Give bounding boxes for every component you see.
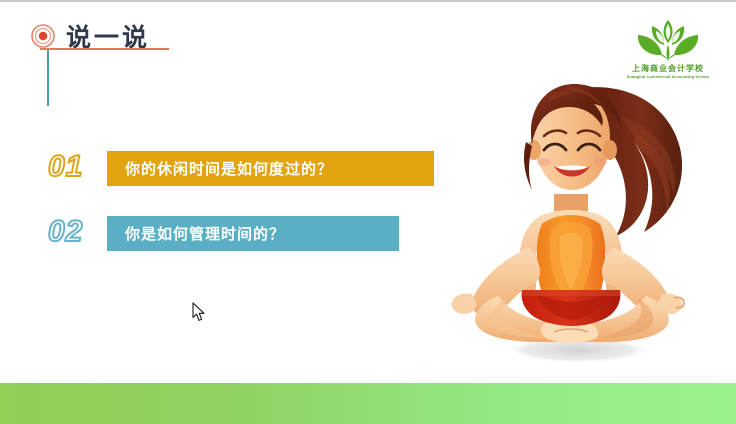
bottom-accent-band [0, 383, 736, 424]
heading-underline [40, 48, 169, 50]
target-icon [30, 23, 56, 49]
hand-left [452, 293, 477, 314]
question-label: 你是如何管理时间的？ [107, 223, 285, 244]
mouse-pointer-icon [192, 302, 206, 322]
heading-vertical-rule [47, 50, 49, 106]
lotus-icon [626, 16, 710, 64]
question-number: 02 [48, 213, 83, 251]
question-label: 你的休闲时间是如何度过的？ [107, 158, 333, 179]
hair-side-left [524, 142, 532, 190]
question-bar: 你的休闲时间是如何度过的？ [107, 151, 434, 186]
question-row: 01 你的休闲时间是如何度过的？ [48, 148, 438, 188]
question-number: 01 [48, 148, 83, 186]
question-row: 02 你是如何管理时间的？ [48, 213, 403, 253]
top-divider [0, 0, 736, 2]
woman-meditating-illustration [436, 62, 716, 372]
presentation-slide: 说一说 01 你的休闲时间是如何度过的？ 02 你是如何管理时间的？ [0, 0, 736, 424]
slide-heading: 说一说 [30, 18, 450, 58]
question-bar: 你是如何管理时间的？ [107, 216, 399, 251]
